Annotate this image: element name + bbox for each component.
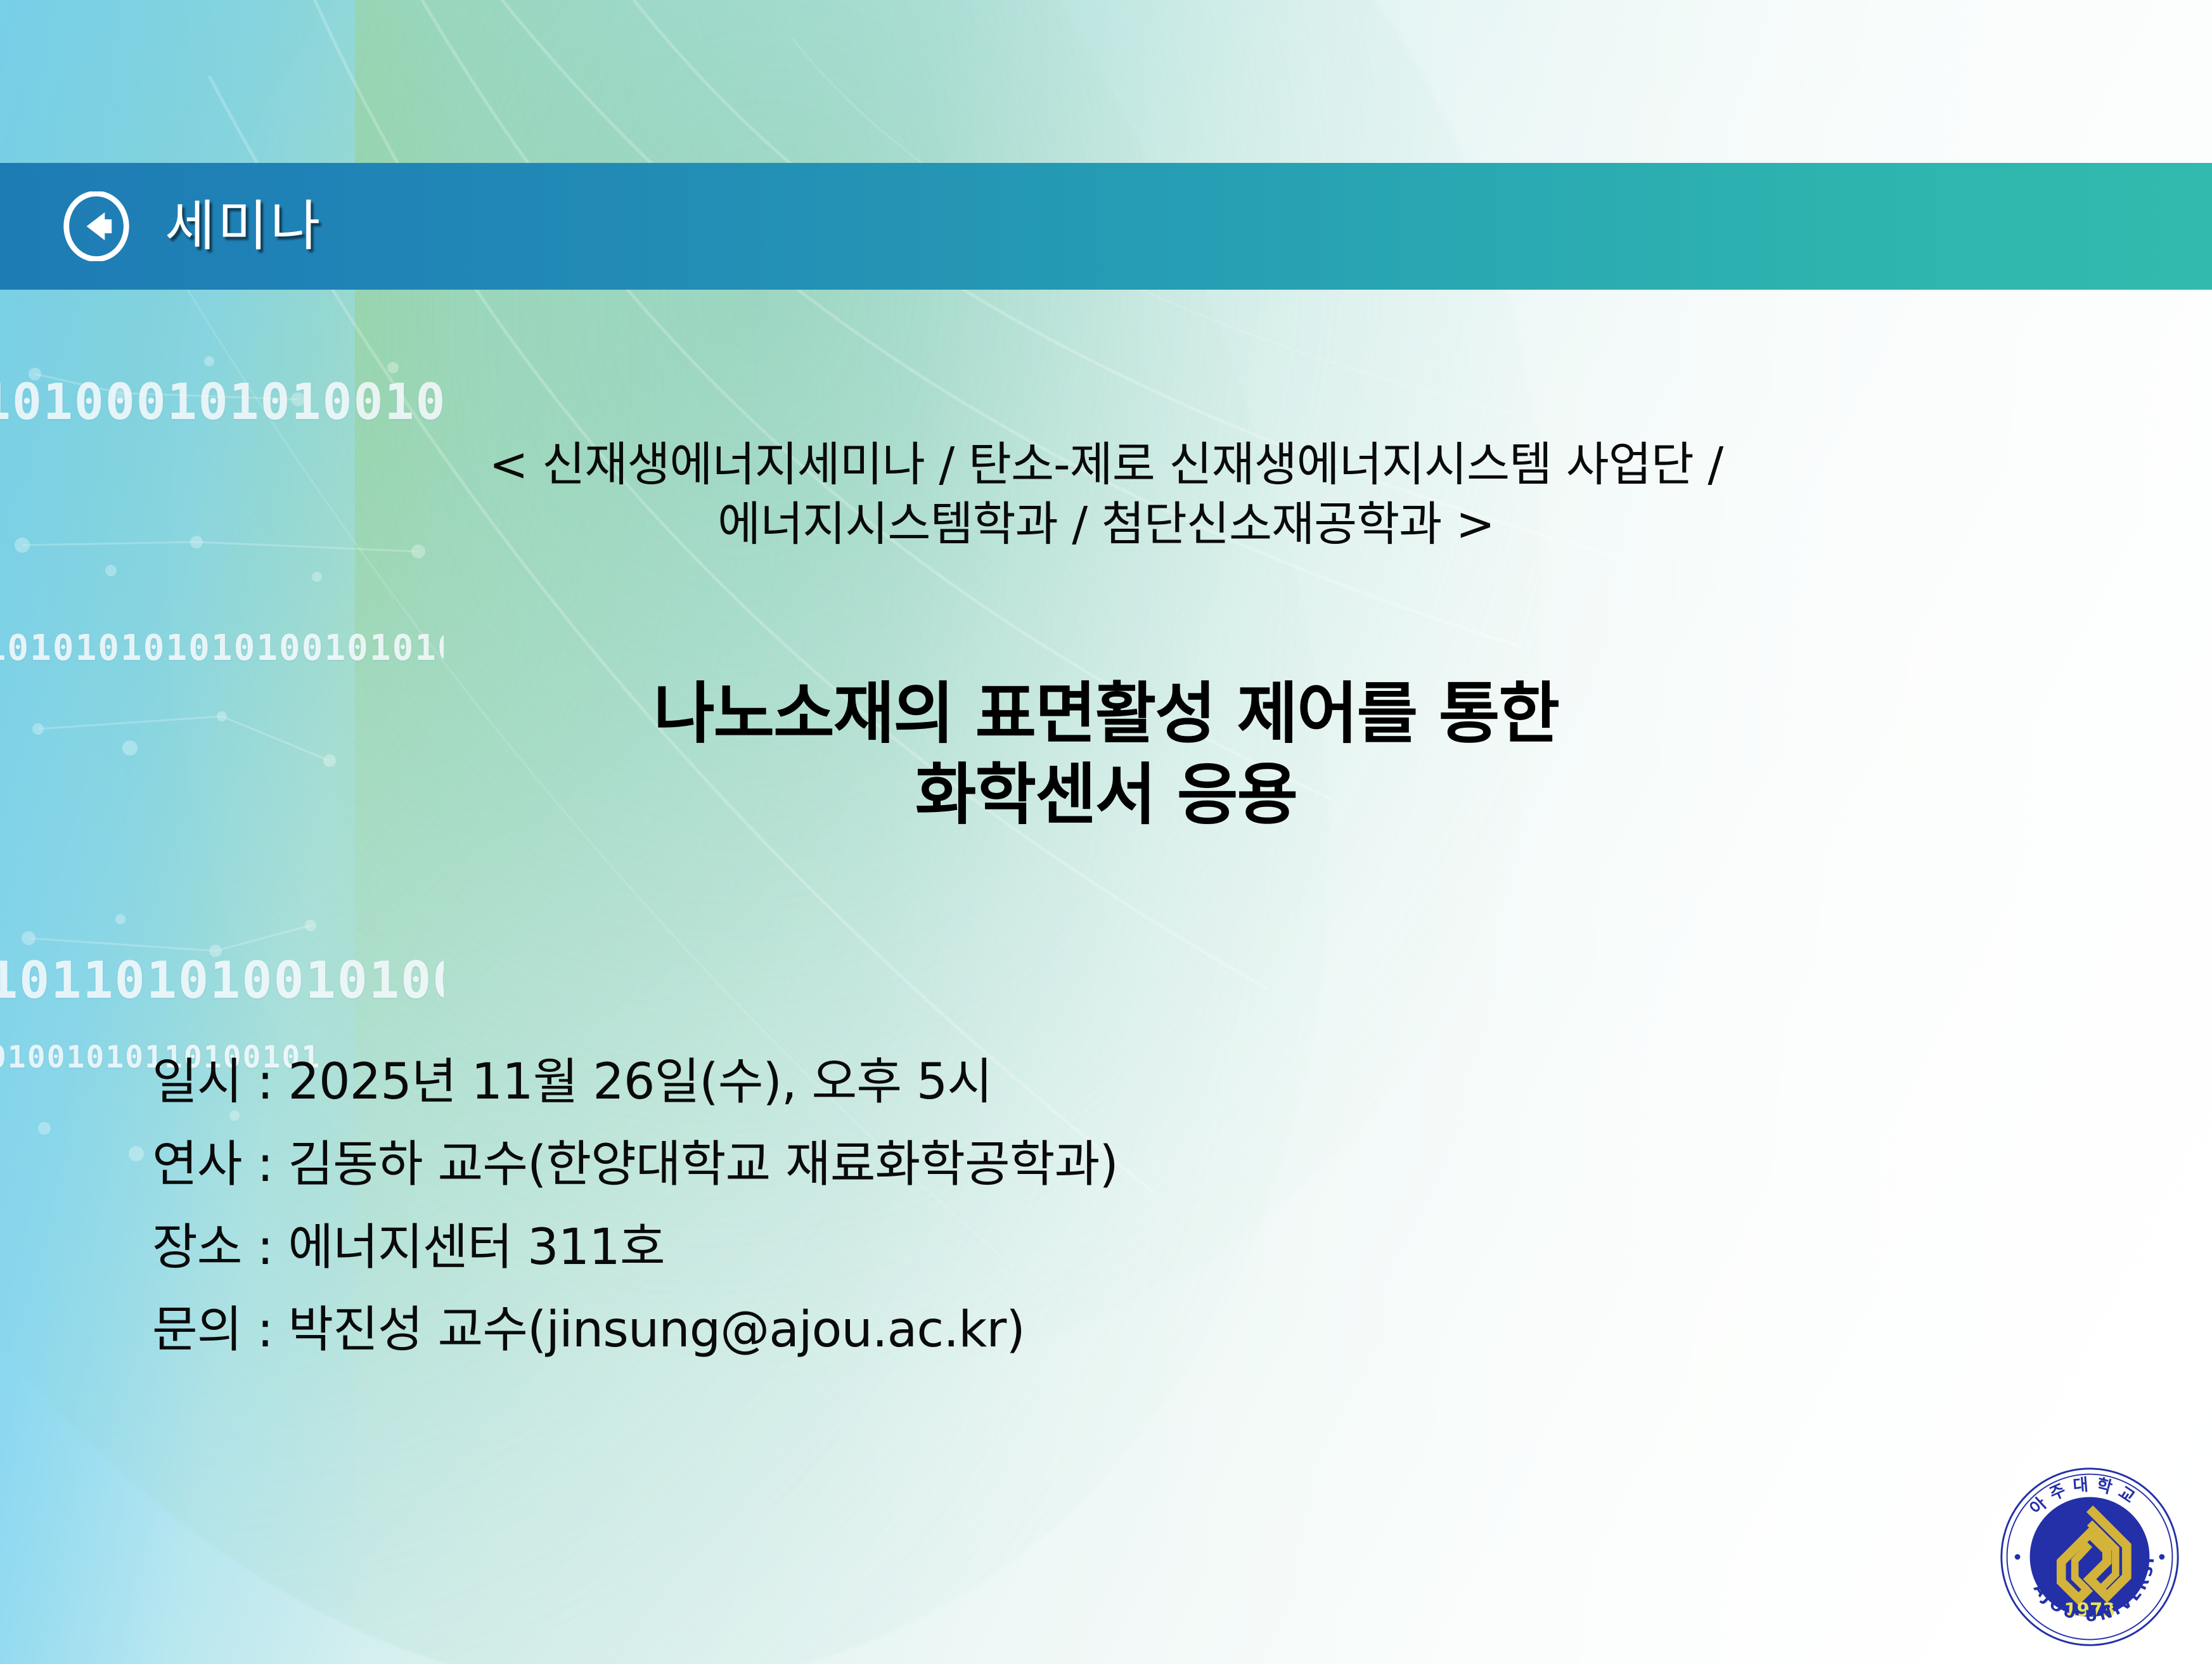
- seminar-poster: 1010001010100101001010 01010101010101001…: [0, 0, 2212, 1664]
- logo-dot-left: [2015, 1554, 2021, 1560]
- header-band: 세미나: [0, 163, 2212, 290]
- page-title: 나노소재의 표면활성 제어를 통한 화학센서 응용: [0, 673, 2212, 835]
- breadcrumb: < 신재생에너지세미나 / 탄소-제로 신재생에너지시스템 사업단 / 에너지시…: [0, 435, 2212, 555]
- logo-dot-right: [2159, 1554, 2165, 1560]
- seminar-details: 일시 : 2025년 11월 26일(수), 오후 5시 연사 : 김동하 교수…: [152, 1041, 1990, 1371]
- breadcrumb-line-1: < 신재생에너지세미나 / 탄소-제로 신재생에너지시스템 사업단 /: [0, 435, 2212, 495]
- ajou-university-logo: 1973 아주대학교 AJOU UNIVERSITY: [1997, 1464, 2182, 1649]
- detail-speaker: 연사 : 김동하 교수(한양대학교 재료화학공학과): [152, 1123, 1990, 1206]
- page-title-line-1: 나노소재의 표면활성 제어를 통한: [0, 673, 2212, 754]
- detail-location: 장소 : 에너지센터 311호: [152, 1206, 1990, 1289]
- header-title: 세미나: [165, 199, 323, 254]
- page-title-line-2: 화학센서 응용: [0, 754, 2212, 835]
- detail-contact: 문의 : 박진성 교수(jinsung@ajou.ac.kr): [152, 1289, 1990, 1371]
- circle-left-arrow-icon[interactable]: [61, 191, 131, 261]
- poster-content: < 신재생에너지세미나 / 탄소-제로 신재생에너지시스템 사업단 / 에너지시…: [0, 290, 2212, 1664]
- breadcrumb-line-2: 에너지시스템학과 / 첨단신소재공학과 >: [0, 495, 2212, 555]
- detail-datetime: 일시 : 2025년 11월 26일(수), 오후 5시: [152, 1041, 1990, 1123]
